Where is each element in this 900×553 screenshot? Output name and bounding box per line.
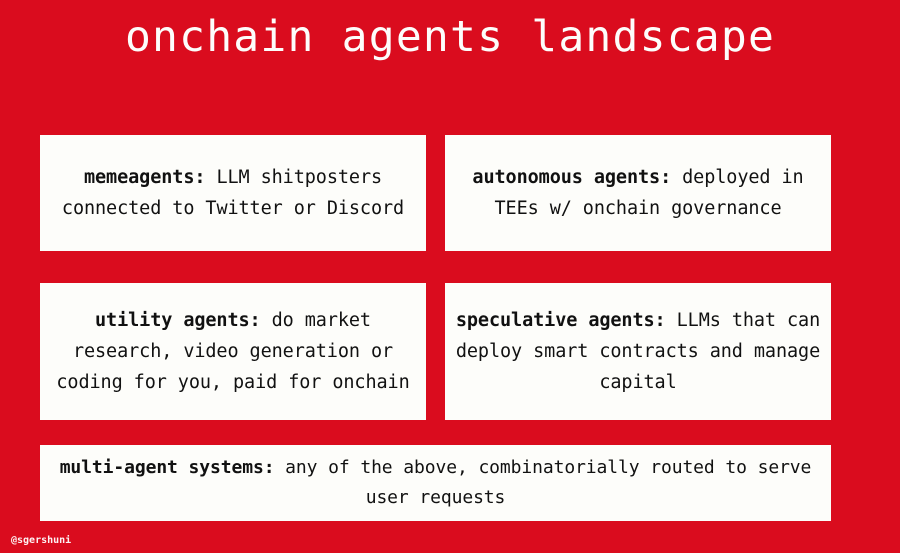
card-utility-agents[interactable]: utility agents: do market research, vide… [40, 283, 426, 420]
card-row-1: memeagents: LLM shitposters connected to… [40, 135, 831, 251]
card-speculative-agents[interactable]: speculative agents: LLMs that can deploy… [445, 283, 831, 420]
card-text: autonomous agents: deployed in TEEs w/ o… [455, 162, 821, 224]
card-row-2: utility agents: do market research, vide… [40, 283, 831, 420]
card-lead-label: autonomous agents: [472, 167, 671, 188]
card-multi-agent-systems[interactable]: multi-agent systems: any of the above, c… [40, 445, 831, 521]
page-title: onchain agents landscape [0, 11, 900, 63]
card-autonomous-agents[interactable]: autonomous agents: deployed in TEEs w/ o… [445, 135, 831, 251]
card-text: multi-agent systems: any of the above, c… [50, 453, 821, 513]
author-watermark: @sgershuni [11, 535, 71, 546]
card-row-3: multi-agent systems: any of the above, c… [40, 445, 831, 521]
card-lead-label: speculative agents: [456, 310, 666, 331]
card-lead-label: multi-agent systems: [60, 457, 275, 478]
card-memeagents[interactable]: memeagents: LLM shitposters connected to… [40, 135, 426, 251]
card-text: utility agents: do market research, vide… [50, 305, 416, 398]
card-lead-label: utility agents: [95, 310, 261, 331]
slide-canvas: onchain agents landscape memeagents: LLM… [0, 0, 900, 553]
card-text: memeagents: LLM shitposters connected to… [50, 162, 416, 224]
card-lead-label: memeagents: [84, 167, 205, 188]
card-body-text: any of the above, combinatorially routed… [274, 457, 811, 508]
card-text: speculative agents: LLMs that can deploy… [455, 305, 821, 398]
card-grid: memeagents: LLM shitposters connected to… [40, 135, 831, 521]
